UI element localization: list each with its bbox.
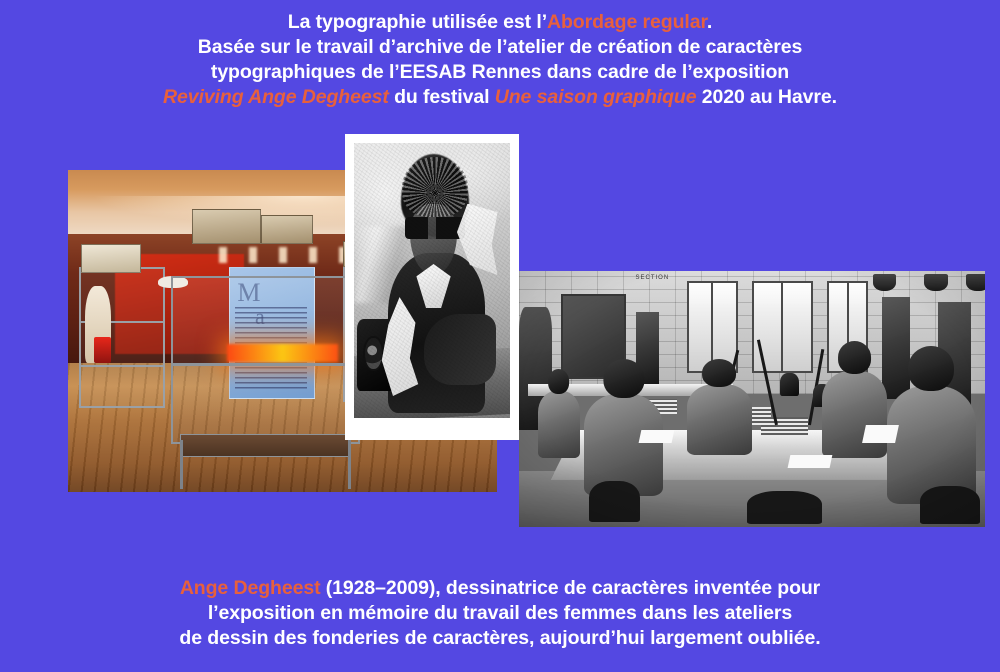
- display-vitrine: [171, 276, 360, 443]
- top-caption-accent-reviving: Reviving Ange Degheest: [163, 86, 389, 108]
- top-caption-line-1-plain-before: La typographie utilisée est l’: [288, 11, 547, 33]
- archive-box-top-a: [192, 209, 261, 244]
- top-caption-line-1-plain-after: .: [707, 11, 712, 33]
- workshop-vignette: [519, 271, 985, 527]
- top-caption-accent-saison: Une saison graphique: [495, 86, 697, 108]
- top-caption-line-2: Basée sur le travail d’archive de l’atel…: [0, 35, 1000, 60]
- slide-root: La typographie utilisée est l’Abordage r…: [0, 0, 1000, 672]
- vitrine-legs: [180, 440, 352, 488]
- portrait-film-grain: [354, 143, 510, 418]
- top-caption-accent-abordage: Abordage regular: [547, 11, 707, 33]
- bottom-caption-block: Ange Degheest (1928–2009), dessinatrice …: [0, 576, 1000, 651]
- archive-box-left: [81, 244, 141, 273]
- portrait-scene: [354, 143, 510, 418]
- workshop-scene: SECTION: [519, 271, 985, 527]
- top-caption-block: La typographie utilisée est l’Abordage r…: [0, 10, 1000, 110]
- top-caption-line-4-plain-after: 2020 au Havre.: [696, 86, 837, 108]
- bottom-caption-line-1: Ange Degheest (1928–2009), dessinatrice …: [0, 576, 1000, 601]
- top-caption-line-4: Reviving Ange Degheest du festival Une s…: [0, 85, 1000, 110]
- bottom-caption-line-1-plain-after: (1928–2009), dessinatrice de caractères …: [320, 577, 820, 599]
- typeface-workshop-photo: SECTION: [519, 271, 985, 527]
- top-caption-line-4-plain-mid: du festival: [389, 86, 495, 108]
- ange-degheest-portrait-photo: [345, 134, 519, 440]
- top-caption-line-3: typographiques de l’EESAB Rennes dans ca…: [0, 60, 1000, 85]
- bottom-caption-accent-name: Ange Degheest: [180, 577, 321, 599]
- bottom-caption-line-2: l’exposition en mémoire du travail des f…: [0, 601, 1000, 626]
- red-object-display: [94, 337, 111, 363]
- bottom-caption-line-3: de dessin des fonderies de caractères, a…: [0, 626, 1000, 651]
- top-caption-line-1: La typographie utilisée est l’Abordage r…: [0, 10, 1000, 35]
- archive-box-top-b: [261, 215, 312, 244]
